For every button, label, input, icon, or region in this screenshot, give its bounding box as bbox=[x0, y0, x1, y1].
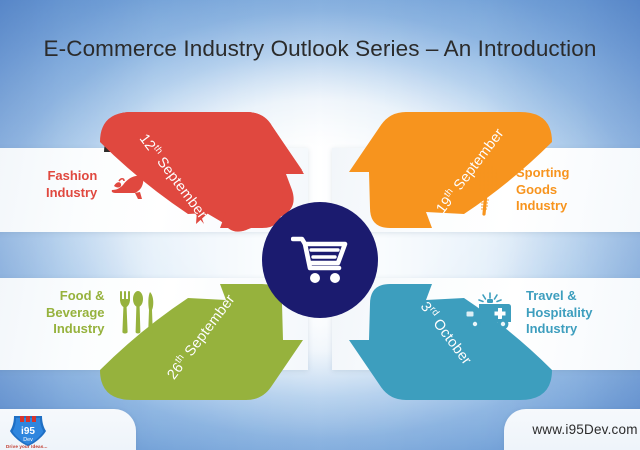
website-url: www.i95Dev.com bbox=[532, 422, 637, 437]
label-text-food-beverage: Food & Beverage Industry bbox=[46, 288, 105, 338]
svg-text:i95: i95 bbox=[21, 426, 35, 437]
label-text-sporting-goods: Sporting Goods Industry bbox=[516, 165, 569, 215]
label-text-travel-hospitality: Travel & Hospitality Industry bbox=[526, 288, 592, 338]
page-title: E-Commerce Industry Outlook Series – An … bbox=[0, 36, 640, 62]
label-sporting-goods: Sporting Goods Industry bbox=[462, 162, 569, 218]
i95dev-logo[interactable]: i95 Dev Drive your Ideas... bbox=[8, 413, 48, 447]
label-food-beverage: Food & Beverage Industry bbox=[46, 288, 159, 338]
label-fashion: Fashion Industry bbox=[46, 168, 149, 202]
footer-logo-pill: i95 Dev Drive your Ideas... bbox=[0, 409, 136, 450]
ambulance-van-icon bbox=[462, 291, 514, 335]
high-heel-shoe-icon bbox=[109, 168, 149, 202]
shopping-cart-icon bbox=[291, 235, 349, 285]
tennis-racket-icon bbox=[462, 162, 504, 218]
cutlery-icon bbox=[117, 290, 159, 336]
center-hub bbox=[262, 202, 378, 318]
infographic-canvas: E-Commerce Industry Outlook Series – An … bbox=[0, 0, 640, 450]
footer-website-pill[interactable]: www.i95Dev.com bbox=[504, 409, 640, 450]
label-text-fashion: Fashion Industry bbox=[46, 168, 97, 201]
logo-tagline: Drive your Ideas... bbox=[6, 444, 47, 449]
svg-text:Dev: Dev bbox=[23, 437, 33, 443]
label-travel-hospitality: Travel & Hospitality Industry bbox=[462, 288, 592, 338]
